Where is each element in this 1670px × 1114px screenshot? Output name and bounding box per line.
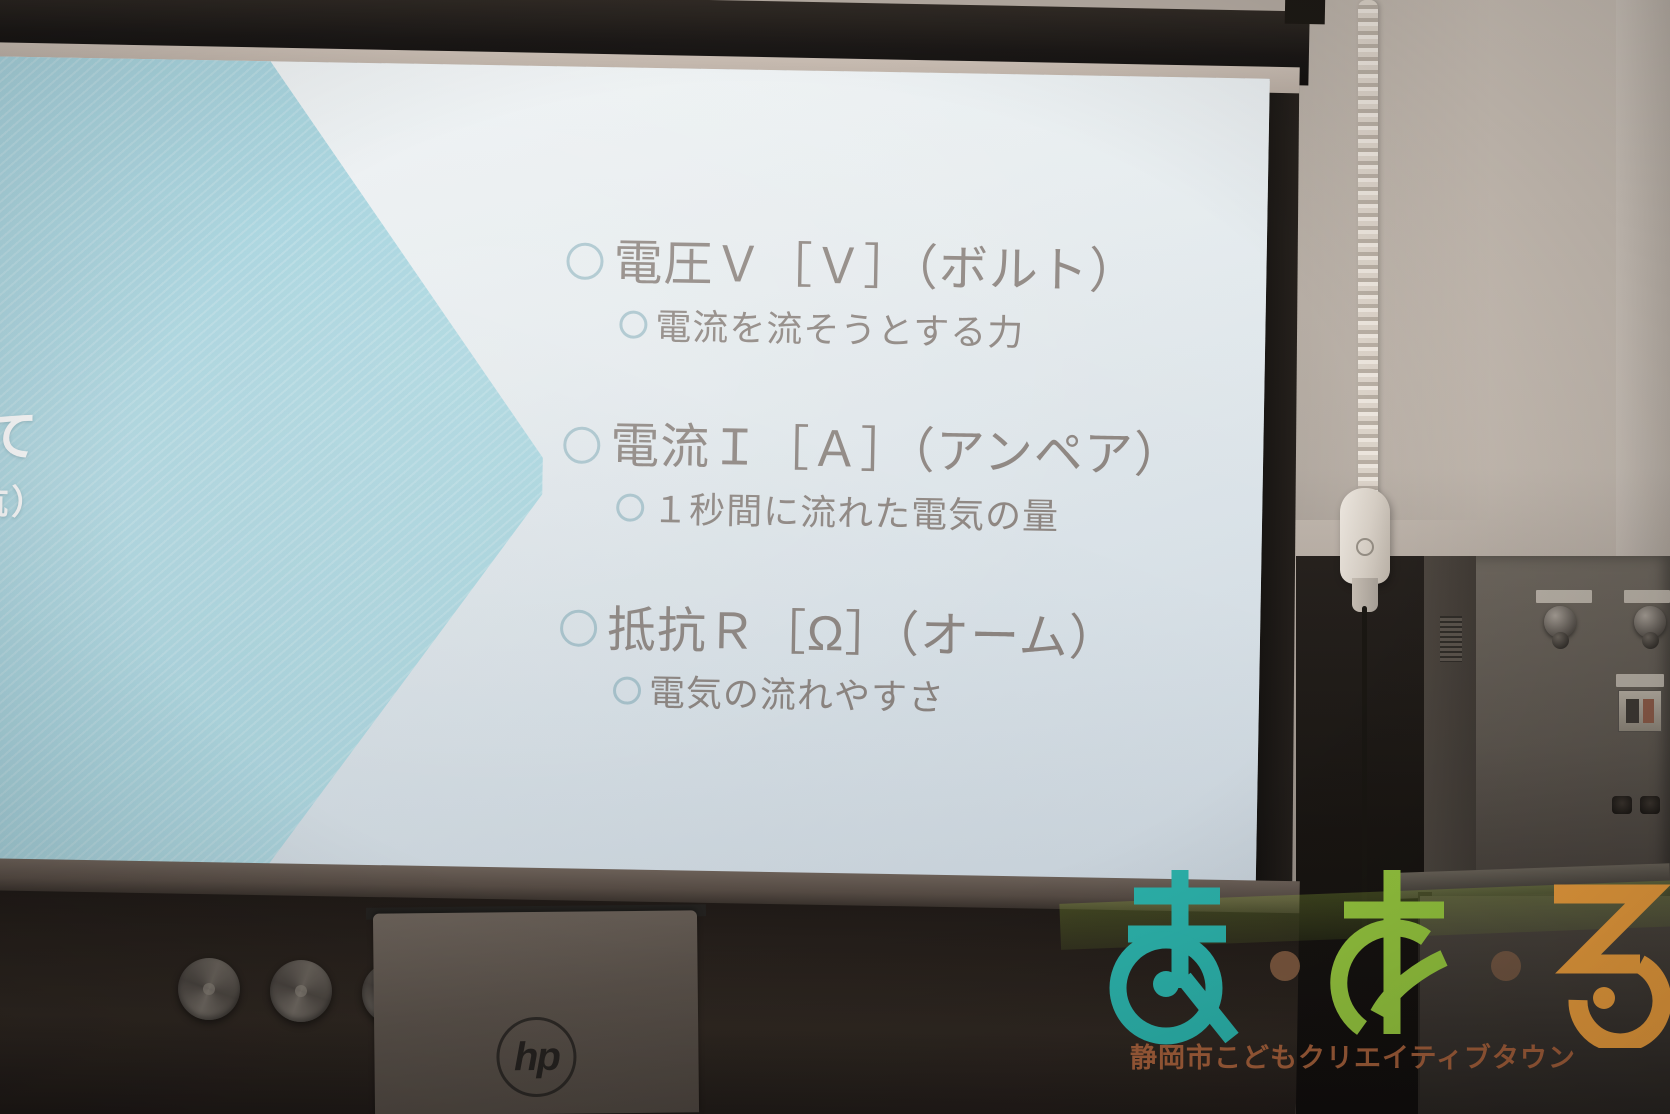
- breaker-indicator-icon: [1643, 699, 1654, 723]
- bullet-group-current: 電流Ｉ［Ａ］（アンペア） １秒間に流れた電気の量: [562, 420, 1224, 541]
- bullet-text-resistance: 抵抗Ｒ［Ω］（オーム）: [607, 604, 1120, 667]
- cabinet-knob-1[interactable]: [178, 958, 240, 1020]
- bullet-group-resistance: 抵抗Ｒ［Ω］（オーム） 電気の流れやすさ: [559, 603, 1221, 724]
- panel-indicator-2: [1642, 632, 1659, 649]
- vent-grille-icon: [1440, 616, 1462, 662]
- bullet-text-voltage: 電圧Ｖ［Ｖ］（ボルト）: [613, 237, 1139, 300]
- open-circle-icon: [613, 676, 641, 704]
- open-circle-icon: [566, 243, 604, 281]
- bullet-level2-current: １秒間に流れた電気の量: [616, 489, 1223, 541]
- subbullet-text-voltage: 電流を流そうとする力: [655, 306, 1025, 354]
- socket-2: [1640, 796, 1660, 814]
- breaker-lever-icon: [1626, 699, 1639, 723]
- hp-logo-icon: hp: [496, 1017, 577, 1098]
- socket-1: [1612, 796, 1632, 814]
- open-circle-icon: [619, 310, 647, 338]
- bullet-text-current: 電流Ｉ［Ａ］（アンペア）: [610, 421, 1184, 485]
- open-circle-icon: [616, 493, 644, 521]
- open-circle-icon: [563, 426, 601, 464]
- handset-device[interactable]: [1340, 488, 1390, 584]
- panel-label-2: [1624, 590, 1670, 603]
- panel-label-1: [1536, 590, 1592, 603]
- bullet-group-voltage: 電圧Ｖ［Ｖ］（ボルト） 電流を流そうとする力: [565, 236, 1227, 357]
- control-panel-side: [1424, 556, 1476, 900]
- page-subtitle: 圧・電流・抵抗）: [0, 471, 273, 529]
- slide-body: 電圧Ｖ［Ｖ］（ボルト） 電流を流そうとする力 電流Ｉ［Ａ］（アンペア） １秒間に: [559, 236, 1227, 723]
- wall-shadow: [1280, 0, 1670, 520]
- screen-housing-cap: [1285, 0, 1326, 24]
- subbullet-text-current: １秒間に流れた電気の量: [652, 489, 1060, 537]
- breaker-switch[interactable]: [1618, 690, 1662, 732]
- bullet-level2-voltage: 電流を流そうとする力: [619, 305, 1226, 357]
- bullet-level1-current: 電流Ｉ［Ａ］（アンペア）: [563, 420, 1224, 485]
- laptop: hp: [373, 910, 699, 1114]
- wall-corner: [1616, 0, 1670, 560]
- panel-indicator-1: [1552, 632, 1569, 649]
- slide-title-block: 気について 圧・電流・抵抗）: [0, 402, 274, 529]
- subbullet-text-resistance: 電気の流れやすさ: [649, 672, 946, 719]
- bullet-level1-resistance: 抵抗Ｒ［Ω］（オーム）: [560, 603, 1221, 668]
- screenshot-root: 気について 圧・電流・抵抗） 電圧Ｖ［Ｖ］（ボルト） 電流を流そうとする力: [0, 0, 1670, 1114]
- bullet-level1-voltage: 電圧Ｖ［Ｖ］（ボルト）: [566, 236, 1227, 301]
- page-title: 気について: [0, 402, 274, 472]
- open-circle-icon: [560, 609, 598, 647]
- presentation-slide: 気について 圧・電流・抵抗） 電圧Ｖ［Ｖ］（ボルト） 電流を流そうとする力: [0, 56, 1270, 891]
- handset-button-icon: [1356, 538, 1374, 556]
- handset-wire: [1362, 606, 1367, 936]
- projection-screen: 気について 圧・電流・抵抗） 電圧Ｖ［Ｖ］（ボルト） 電流を流そうとする力: [0, 56, 1270, 891]
- coiled-cord: [1358, 0, 1378, 505]
- panel-label-3: [1616, 674, 1664, 687]
- cabinet-knob-2[interactable]: [270, 960, 332, 1022]
- lower-cabinet-right: [1420, 896, 1670, 1114]
